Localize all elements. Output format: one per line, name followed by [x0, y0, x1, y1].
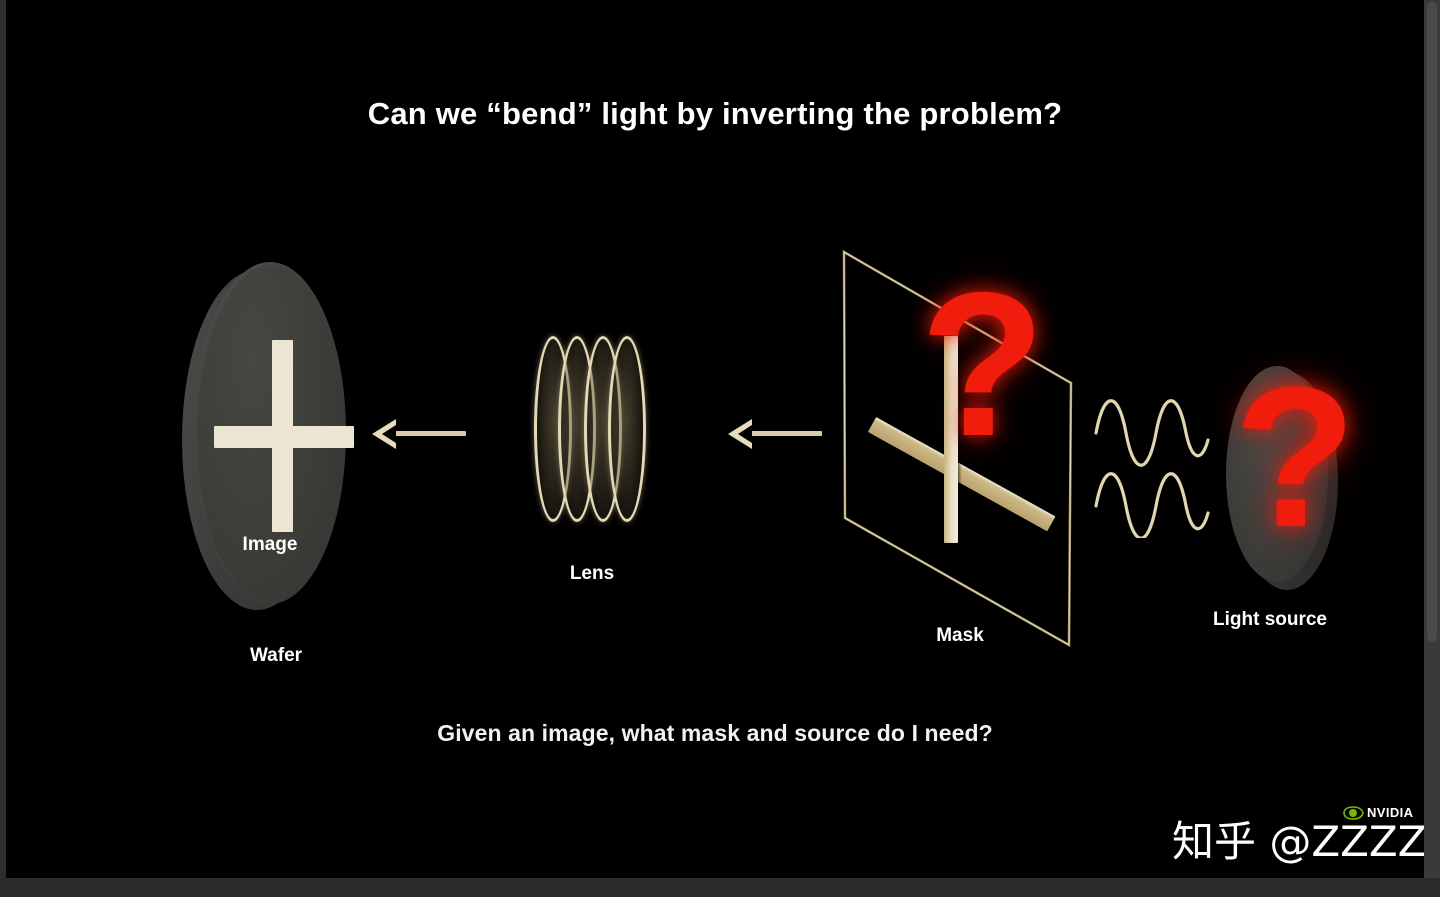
- arrow-mask-to-lens-icon: [728, 419, 828, 449]
- watermark-text: 知乎 @ZZZZ: [1172, 808, 1424, 869]
- caption-mask: Mask: [936, 625, 984, 647]
- slide-canvas: Can we “bend” light by inverting the pro…: [6, 0, 1424, 878]
- arrow-shaft: [750, 431, 822, 436]
- light-wave-icon: [1092, 388, 1212, 538]
- wafer-image-label: Image: [243, 534, 298, 556]
- lens-ring-4: [608, 336, 646, 522]
- arrow-lens-to-wafer-icon: [372, 419, 472, 449]
- viewer-frame: Can we “bend” light by inverting the pro…: [0, 0, 1440, 897]
- arrow-head-notch: [382, 425, 396, 443]
- caption-wafer: Wafer: [250, 645, 302, 667]
- page-title: Can we “bend” light by inverting the pro…: [6, 96, 1424, 132]
- diagram-stage-wafer: Image: [182, 262, 352, 614]
- vertical-scrollbar[interactable]: [1424, 0, 1440, 878]
- light-source-unknown-question-mark: ?: [1234, 358, 1326, 558]
- caption-lens: Lens: [570, 563, 614, 585]
- page-subtitle: Given an image, what mask and source do …: [6, 720, 1424, 747]
- scrollbar-thumb[interactable]: [1427, 2, 1437, 642]
- arrow-head-notch: [738, 425, 752, 443]
- wafer-cross-horizontal-bar: [214, 426, 354, 448]
- diagram-stage-light-source: ?: [1218, 366, 1348, 596]
- bottom-gutter: [0, 878, 1440, 897]
- caption-light-source: Light source: [1213, 609, 1327, 631]
- arrow-shaft: [394, 431, 466, 436]
- diagram-stage-mask: ?: [832, 240, 1092, 660]
- diagram-stage-lens: [534, 336, 650, 536]
- mask-unknown-question-mark: ?: [920, 262, 1030, 467]
